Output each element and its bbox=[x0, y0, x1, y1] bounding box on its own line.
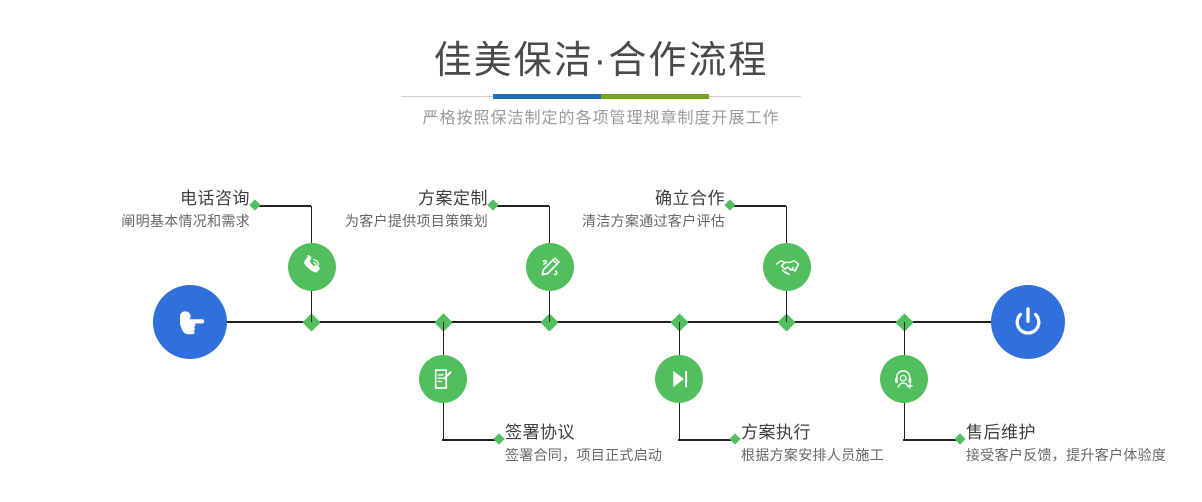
step-node-3[interactable] bbox=[526, 243, 574, 291]
end-endpoint[interactable] bbox=[991, 285, 1065, 359]
step-node-1[interactable] bbox=[288, 243, 336, 291]
connector-horizontal-6 bbox=[903, 439, 959, 441]
step-label-3: 方案定制 为客户提供项目策策划 bbox=[250, 188, 488, 232]
step-label-1: 电话咨询 阐明基本情况和需求 bbox=[10, 188, 250, 232]
step-desc-4: 根据方案安排人员施工 bbox=[741, 444, 1001, 466]
label-marker-5 bbox=[724, 199, 735, 210]
divider-segment-green bbox=[601, 94, 709, 99]
connector-horizontal-2 bbox=[442, 439, 498, 441]
step-desc-5: 清洁方案通过客户评估 bbox=[490, 210, 725, 232]
step-label-2: 签署协议 签署合同，项目正式启动 bbox=[505, 422, 765, 466]
divider-segment-blue bbox=[493, 94, 601, 99]
customer-service-icon bbox=[891, 366, 917, 392]
page-title: 佳美保洁·合作流程 bbox=[0, 38, 1202, 84]
step-label-6: 售后维护 接受客户反馈，提升客户体验度 bbox=[966, 422, 1202, 466]
step-label-4: 方案执行 根据方案安排人员施工 bbox=[741, 422, 1001, 466]
handshake-icon bbox=[774, 254, 801, 281]
step-title-2: 签署协议 bbox=[505, 422, 765, 444]
document-sign-icon bbox=[430, 366, 456, 392]
step-node-2[interactable] bbox=[419, 355, 467, 403]
connector-horizontal-5 bbox=[730, 205, 786, 207]
start-endpoint[interactable] bbox=[153, 285, 227, 359]
page-subtitle: 严格按照保洁制定的各项管理规章制度开展工作 bbox=[0, 106, 1202, 132]
step-desc-2: 签署合同，项目正式启动 bbox=[505, 444, 765, 466]
title-divider bbox=[401, 94, 801, 99]
step-title-1: 电话咨询 bbox=[10, 188, 250, 210]
connector-horizontal-4 bbox=[678, 439, 734, 441]
step-node-6[interactable] bbox=[880, 355, 928, 403]
step-label-5: 确立合作 清洁方案通过客户评估 bbox=[490, 188, 725, 232]
phone-call-icon bbox=[299, 254, 325, 280]
flowchart-canvas: 佳美保洁·合作流程 严格按照保洁制定的各项管理规章制度开展工作 bbox=[0, 0, 1202, 502]
step-desc-3: 为客户提供项目策策划 bbox=[250, 210, 488, 232]
step-title-6: 售后维护 bbox=[966, 422, 1202, 444]
label-marker-2 bbox=[493, 433, 504, 444]
step-title-5: 确立合作 bbox=[490, 188, 725, 210]
step-node-5[interactable] bbox=[763, 243, 811, 291]
power-icon bbox=[1007, 301, 1049, 343]
pointing-hand-icon bbox=[170, 302, 210, 342]
pencil-edit-icon bbox=[537, 254, 563, 280]
step-node-4[interactable] bbox=[655, 355, 703, 403]
step-title-3: 方案定制 bbox=[250, 188, 488, 210]
play-execute-icon bbox=[666, 366, 692, 392]
step-desc-6: 接受客户反馈，提升客户体验度 bbox=[966, 444, 1202, 466]
step-desc-1: 阐明基本情况和需求 bbox=[10, 210, 250, 232]
